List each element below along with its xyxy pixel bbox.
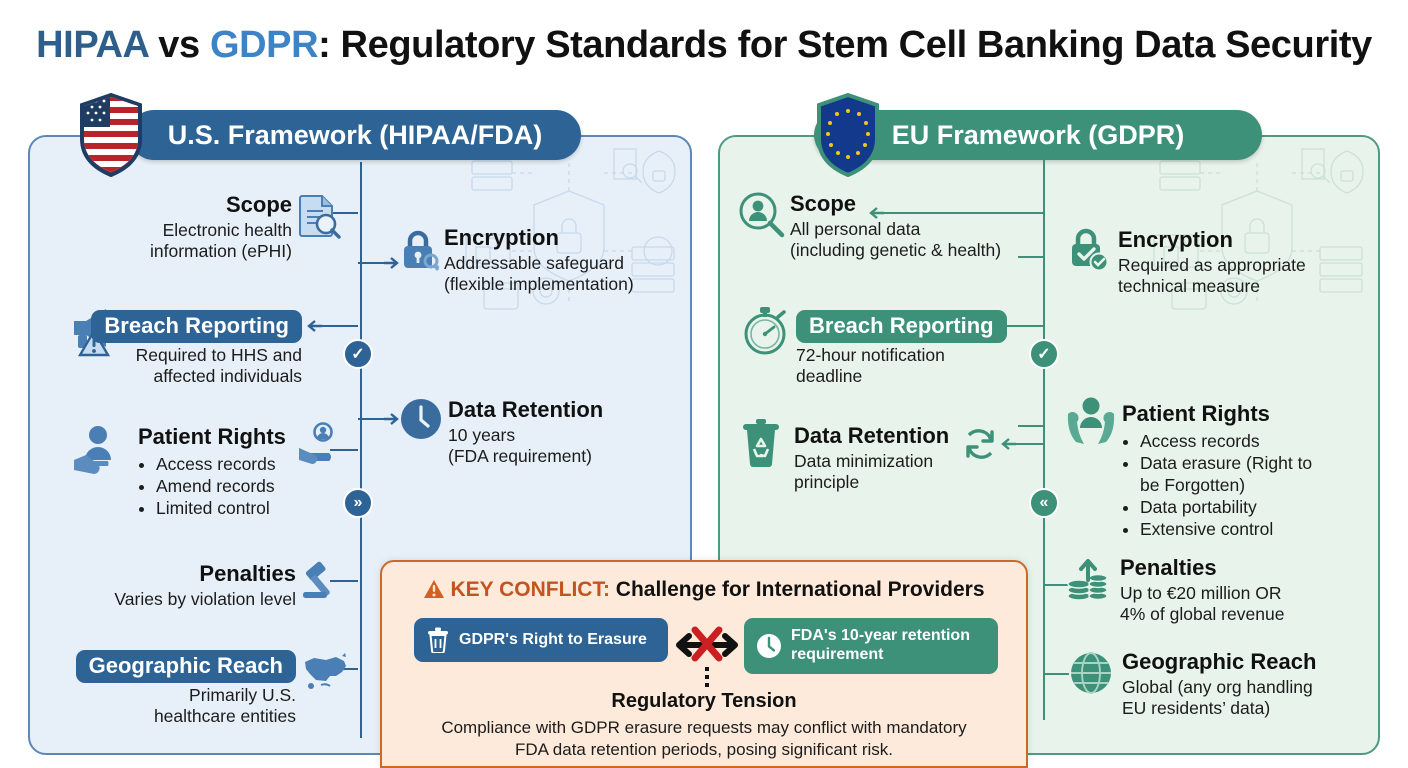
list-item: Limited control: [156, 497, 314, 519]
coins-arrow-up-icon: [1066, 558, 1114, 606]
list-item: Access records: [1140, 430, 1380, 452]
us-retention-heading: Data Retention: [448, 398, 678, 423]
us-encryption-body: Addressable safeguard (flexible implemen…: [444, 253, 674, 296]
person-in-hand-icon: [296, 422, 342, 470]
us-scope-heading: Scope: [60, 193, 292, 218]
us-check-badge: ✓: [343, 339, 373, 369]
list-item: Access records: [156, 453, 314, 475]
regulatory-tension-label: Regulatory Tension: [382, 690, 1026, 713]
us-rights-heading: Patient Rights: [138, 425, 314, 450]
key-conflict-box: KEY CONFLICT: Challenge for Internationa…: [380, 560, 1028, 768]
list-item: Data erasure (Right to be Forgotten): [1140, 452, 1380, 496]
conflict-chip-fda-label: FDA's 10-year retention requirement: [791, 627, 986, 665]
eu-rights-list: Access records Data erasure (Right to be…: [1140, 430, 1380, 540]
page-title: HIPAA vs GDPR: Regulatory Standards for …: [0, 24, 1408, 67]
us-flag-shield-icon: [78, 93, 144, 177]
title-vs: vs: [148, 24, 210, 66]
padlock-check-icon: [1066, 226, 1112, 274]
person-search-icon: [737, 190, 785, 238]
us-item-breach-reporting: Breach Reporting Required to HHS and aff…: [60, 310, 302, 388]
eu-geo-body: Global (any org handling EU residents’ d…: [1122, 677, 1378, 720]
us-item-penalties: Penalties Varies by violation level: [60, 562, 296, 610]
us-item-patient-rights: Patient Rights Access records Amend reco…: [138, 425, 314, 519]
clock-icon: [756, 633, 782, 659]
eu-scope-heading: Scope: [790, 192, 1052, 217]
eu-breach-body: 72-hour notification deadline: [796, 345, 1066, 388]
person-in-hand-icon: [72, 424, 130, 476]
recycle-bin-icon: [740, 418, 786, 468]
arrow-left-icon: [306, 318, 322, 334]
list-item: Extensive control: [1140, 518, 1380, 540]
clock-icon: [398, 396, 444, 442]
us-item-encryption: Encryption Addressable safeguard (flexib…: [444, 226, 674, 295]
conflict-chip-fda[interactable]: FDA's 10-year retention requirement: [744, 618, 998, 674]
us-penalties-body: Varies by violation level: [60, 589, 296, 610]
us-chevron-badge: »: [343, 488, 373, 518]
eu-geo-heading: Geographic Reach: [1122, 650, 1378, 675]
us-penalties-heading: Penalties: [60, 562, 296, 587]
us-panel-header-label: U.S. Framework (HIPAA/FDA): [168, 120, 543, 151]
conflict-title-rest: Challenge for International Providers: [610, 578, 985, 601]
list-item: Amend records: [156, 475, 314, 497]
us-spine: [360, 162, 362, 738]
us-encryption-heading: Encryption: [444, 226, 674, 251]
double-chevron-left-icon: «: [1040, 494, 1049, 512]
us-geo-heading: Geographic Reach: [76, 650, 296, 683]
eu-item-breach-reporting: Breach Reporting 72-hour notification de…: [796, 310, 1066, 388]
conflict-description: Compliance with GDPR erasure requests ma…: [382, 717, 1026, 761]
title-hipaa: HIPAA: [36, 24, 148, 66]
eu-encryption-heading: Encryption: [1118, 228, 1368, 253]
padlock-key-icon: [398, 228, 442, 274]
conflict-title: KEY CONFLICT: Challenge for Internationa…: [382, 578, 1026, 602]
us-item-geographic-reach: Geographic Reach Primarily U.S. healthca…: [60, 650, 296, 728]
eu-item-encryption: Encryption Required as appropriate techn…: [1118, 228, 1368, 297]
conflict-label: KEY CONFLICT:: [450, 578, 609, 601]
us-connector-breach: [318, 325, 358, 327]
us-panel-header: U.S. Framework (HIPAA/FDA): [129, 110, 581, 160]
eu-rights-heading: Patient Rights: [1122, 402, 1380, 427]
gavel-icon: [300, 560, 346, 606]
check-icon: ✓: [351, 344, 364, 364]
eu-item-scope: Scope All personal data (including genet…: [790, 192, 1052, 261]
eu-item-penalties: Penalties Up to €20 million OR 4% of glo…: [1120, 556, 1370, 625]
us-scope-body: Electronic health information (ePHI): [60, 220, 292, 263]
infographic-root: HIPAA vs GDPR: Regulatory Standards for …: [0, 0, 1408, 768]
usa-map-icon: [302, 652, 350, 696]
double-chevron-right-icon: »: [354, 494, 363, 512]
eu-penalties-body: Up to €20 million OR 4% of global revenu…: [1120, 583, 1370, 626]
us-item-scope: Scope Electronic health information (ePH…: [60, 193, 292, 262]
document-search-icon: [296, 193, 342, 239]
us-rights-list: Access records Amend records Limited con…: [156, 453, 314, 519]
eu-panel-header-label: EU Framework (GDPR): [892, 120, 1185, 151]
title-rest: : Regulatory Standards for Stem Cell Ban…: [318, 24, 1372, 66]
refresh-cycle-icon: [960, 424, 1000, 464]
eu-stars-shield-icon: [815, 93, 881, 177]
us-geo-body: Primarily U.S. healthcare entities: [60, 685, 296, 728]
person-in-hands-icon: [1064, 396, 1118, 448]
us-item-data-retention: Data Retention 10 years (FDA requirement…: [448, 398, 678, 467]
eu-item-patient-rights: Patient Rights Access records Data erasu…: [1122, 402, 1380, 540]
us-retention-body: 10 years (FDA requirement): [448, 425, 678, 468]
list-item: Data portability: [1140, 496, 1380, 518]
us-breach-body: Required to HHS and affected individuals: [60, 345, 302, 388]
warning-triangle-icon: [423, 579, 445, 599]
us-breach-heading: Breach Reporting: [91, 310, 302, 343]
stopwatch-icon: [740, 305, 792, 357]
eu-panel-header: EU Framework (GDPR): [814, 110, 1262, 160]
eu-encryption-body: Required as appropriate technical measur…: [1118, 255, 1368, 298]
dotted-line-icon: [704, 666, 710, 690]
eu-item-geographic-reach: Geographic Reach Global (any org handlin…: [1122, 650, 1378, 719]
conflict-chip-gdpr[interactable]: GDPR's Right to Erasure: [414, 618, 668, 662]
globe-icon: [1068, 650, 1114, 696]
red-x-icon: [686, 622, 728, 666]
eu-penalties-heading: Penalties: [1120, 556, 1370, 581]
eu-breach-heading: Breach Reporting: [796, 310, 1007, 343]
eu-connector-geo: [1043, 673, 1069, 675]
trash-icon: [426, 627, 450, 653]
eu-scope-body: All personal data (including genetic & h…: [790, 219, 1052, 262]
title-gdpr: GDPR: [210, 24, 318, 66]
conflict-chip-gdpr-label: GDPR's Right to Erasure: [459, 631, 647, 650]
